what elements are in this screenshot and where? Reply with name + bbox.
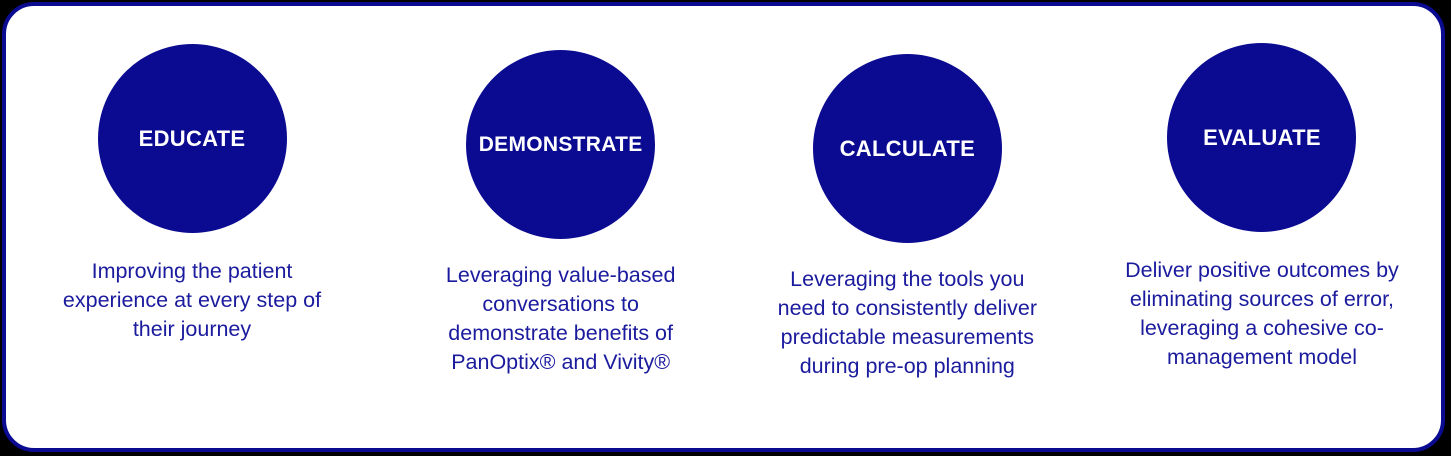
step-calculate: CALCULATE Leveraging the tools you need … [757,6,1057,381]
step-evaluate: EVALUATE Deliver positive outcomes by el… [1097,6,1427,372]
step-caption-evaluate: Deliver positive outcomes by eliminating… [1114,256,1410,372]
step-circle-evaluate: EVALUATE [1167,43,1356,232]
step-demonstrate: DEMONSTRATE Leveraging value-based conve… [404,6,718,377]
step-circle-calculate: CALCULATE [813,54,1002,243]
step-label-demonstrate: DEMONSTRATE [479,134,643,155]
step-circle-demonstrate: DEMONSTRATE [466,50,655,239]
step-circle-educate: EDUCATE [98,44,287,233]
step-caption-educate: Improving the patient experience at ever… [46,257,338,344]
steps-row: EDUCATE Improving the patient experience… [6,6,1441,448]
step-educate: EDUCATE Improving the patient experience… [20,6,364,344]
step-label-evaluate: EVALUATE [1203,127,1321,149]
step-label-calculate: CALCULATE [840,138,976,160]
step-caption-calculate: Leveraging the tools you need to consist… [769,265,1045,381]
infographic-panel: EDUCATE Improving the patient experience… [2,2,1445,452]
step-label-educate: EDUCATE [139,128,246,150]
step-caption-demonstrate: Leveraging value-based conversations to … [422,261,700,377]
